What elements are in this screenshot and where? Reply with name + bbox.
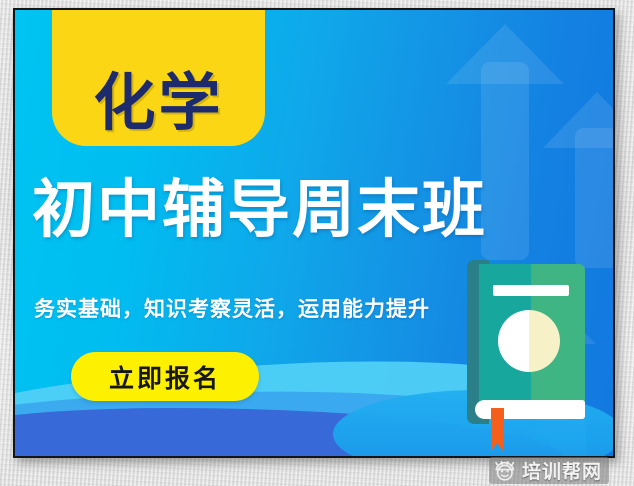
subtitle: 务实基础，知识考察灵活，运用能力提升 bbox=[34, 293, 430, 323]
up-arrow-icon-large-shaft bbox=[481, 62, 529, 260]
subject-badge: 化学 bbox=[52, 10, 265, 146]
up-arrow-icon-edge-shaft bbox=[575, 128, 613, 268]
watermark-text: 培训帮网 bbox=[522, 457, 602, 484]
headline: 初中辅导周末班 bbox=[32, 178, 487, 241]
book-illustration bbox=[467, 260, 587, 424]
enroll-now-button-label: 立即报名 bbox=[109, 359, 221, 395]
watermark: 培训帮网 bbox=[489, 457, 609, 484]
up-arrow-icon-edge-head bbox=[543, 92, 613, 148]
subject-badge-label: 化学 bbox=[93, 72, 223, 134]
up-arrow-icon-large-head bbox=[446, 24, 564, 84]
sun-face-icon bbox=[494, 461, 516, 481]
enroll-now-button[interactable]: 立即报名 bbox=[71, 352, 259, 401]
book-title-bar bbox=[493, 285, 569, 296]
banner-canvas: 化学 初中辅导周末班 务实基础，知识考察灵活，运用能力提升 立即报名 bbox=[15, 10, 613, 456]
promo-banner: 化学 初中辅导周末班 务实基础，知识考察灵活，运用能力提升 立即报名 bbox=[13, 8, 615, 458]
book-bookmark-ribbon bbox=[491, 408, 504, 443]
